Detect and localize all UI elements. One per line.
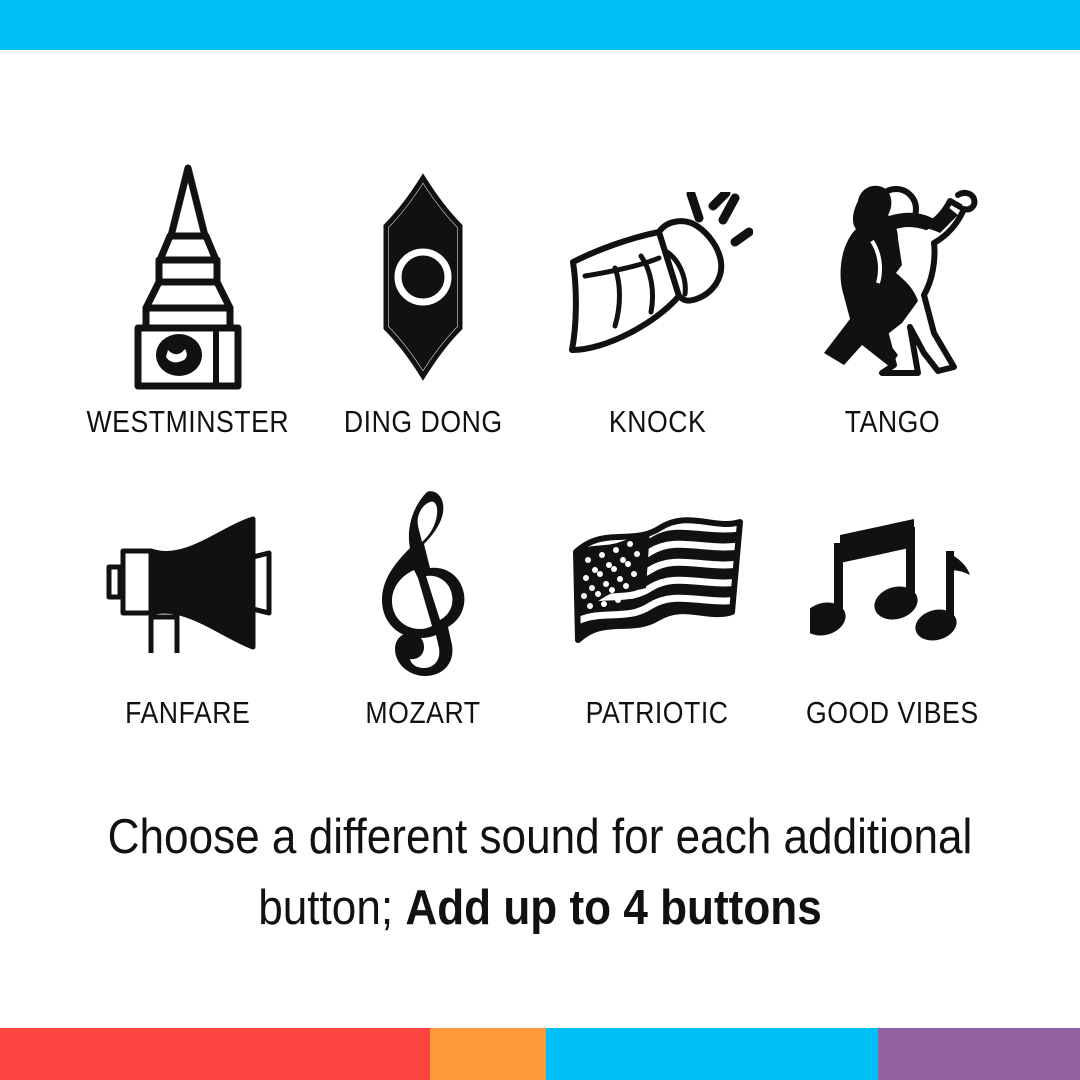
sound-label: TANGO <box>845 406 940 437</box>
caption-line-2: button; Add up to 4 buttons <box>104 873 975 944</box>
knocking-fist-icon <box>563 162 753 392</box>
sound-label: DING DONG <box>344 406 503 437</box>
sound-label: KNOCK <box>609 406 706 437</box>
top-brand-bar <box>0 0 1080 50</box>
sound-label: PATRIOTIC <box>586 697 729 728</box>
sound-option-patriotic[interactable]: PATRIOTIC <box>540 483 775 728</box>
caption-line-2-regular: button; <box>258 881 405 935</box>
sound-grid-row-1: WESTMINSTER DING DONG <box>0 162 1080 437</box>
sound-label: MOZART <box>365 697 480 728</box>
sound-option-westminster[interactable]: WESTMINSTER <box>70 162 306 437</box>
sound-option-fanfare[interactable]: FANFARE <box>70 483 305 728</box>
sound-grid-row-2: FANFARE MOZART <box>0 483 1080 728</box>
caption-line-1: Choose a different sound for each additi… <box>104 802 975 873</box>
sound-option-tango[interactable]: TANGO <box>775 162 1010 437</box>
sound-option-good-vibes[interactable]: GOOD VIBES <box>775 483 1010 728</box>
music-notes-icon <box>810 483 975 683</box>
dancing-couple-icon <box>798 162 988 392</box>
promo-card: WESTMINSTER DING DONG <box>0 0 1080 1080</box>
strip-red <box>0 1028 430 1080</box>
doorbell-icon <box>368 162 478 392</box>
sound-label: FANFARE <box>125 697 250 728</box>
caption-line-2-bold: Add up to 4 buttons <box>405 881 821 935</box>
sound-label: WESTMINSTER <box>86 406 289 437</box>
caption-text: Choose a different sound for each additi… <box>0 802 1080 943</box>
content-area: WESTMINSTER DING DONG <box>0 50 1080 1080</box>
megaphone-icon <box>103 483 273 683</box>
strip-blue <box>546 1028 878 1080</box>
sound-option-mozart[interactable]: MOZART <box>305 483 540 728</box>
sound-option-ding-dong[interactable]: DING DONG <box>306 162 541 437</box>
sound-option-knock[interactable]: KNOCK <box>540 162 775 437</box>
strip-purple <box>878 1028 1080 1080</box>
strip-orange <box>430 1028 547 1080</box>
treble-clef-icon <box>368 483 478 683</box>
sound-label: GOOD VIBES <box>806 697 979 728</box>
clock-tower-icon <box>113 162 263 392</box>
bottom-color-strips <box>0 1028 1080 1080</box>
usa-flag-icon <box>570 483 745 683</box>
